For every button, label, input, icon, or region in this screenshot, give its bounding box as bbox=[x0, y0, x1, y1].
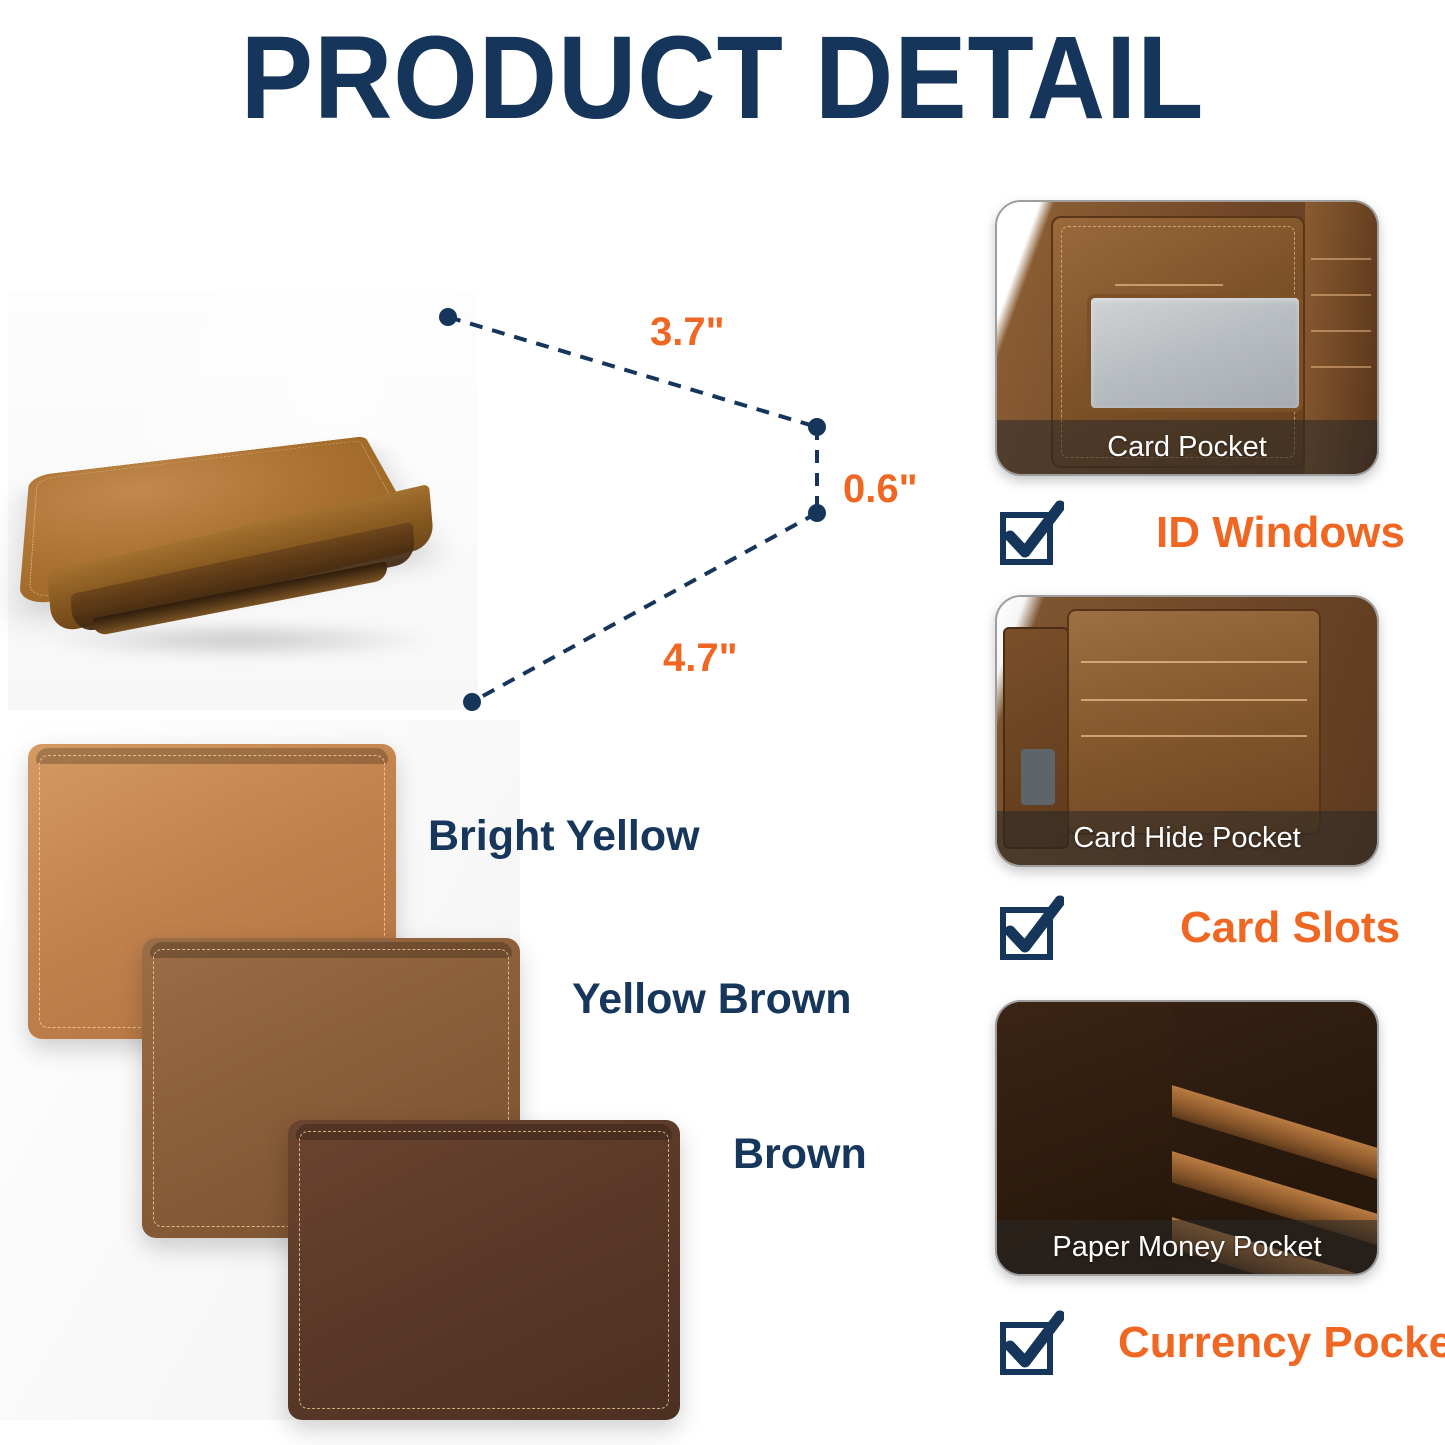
card-slot-line bbox=[1081, 735, 1307, 737]
card-slot-line bbox=[1115, 284, 1223, 286]
page-title: PRODUCT DETAIL bbox=[58, 18, 1387, 138]
hero-wallet-photo bbox=[8, 290, 478, 710]
feature-card-paper-money-pocket: Paper Money Pocket bbox=[995, 1000, 1379, 1276]
wallet-lip bbox=[296, 1124, 672, 1140]
card-slot-line bbox=[1081, 699, 1307, 701]
dimension-label-depth: 4.7" bbox=[663, 636, 738, 681]
feature-check-label: Card Slots bbox=[1180, 903, 1400, 953]
feature-caption: Card Pocket bbox=[997, 420, 1377, 474]
feature-caption: Paper Money Pocket bbox=[997, 1220, 1377, 1274]
wallet-card-slots-panel bbox=[1067, 609, 1321, 835]
feature-checkrow-id-windows: ID Windows bbox=[998, 500, 1405, 566]
dimension-label-height: 0.6" bbox=[843, 467, 918, 512]
card-slot-line bbox=[1081, 661, 1307, 663]
color-label-bright-yellow: Bright Yellow bbox=[428, 812, 700, 861]
feature-check-label: Currency Pockets bbox=[1118, 1318, 1445, 1368]
checkbox-checked-icon bbox=[998, 1310, 1064, 1376]
feature-card-card-hide-pocket: Card Hide Pocket bbox=[995, 595, 1379, 867]
color-label-brown: Brown bbox=[733, 1130, 867, 1179]
feature-checkrow-currency-pockets: Currency Pockets bbox=[998, 1310, 1445, 1376]
feature-card-card-pocket: Card Pocket bbox=[995, 200, 1379, 476]
color-label-yellow-brown: Yellow Brown bbox=[572, 975, 852, 1024]
feature-check-label: ID Windows bbox=[1156, 508, 1405, 558]
checkbox-checked-icon bbox=[998, 500, 1064, 566]
feature-checkrow-card-slots: Card Slots bbox=[998, 895, 1400, 961]
product-detail-infographic: PRODUCT DETAIL 3.7" 0.6" 4.7" bbox=[0, 0, 1445, 1445]
color-swatch-brown bbox=[288, 1120, 680, 1420]
left-id-window bbox=[1021, 749, 1055, 805]
feature-caption: Card Hide Pocket bbox=[997, 811, 1377, 865]
id-window bbox=[1087, 294, 1303, 412]
wallet-lip bbox=[150, 942, 512, 958]
wallet-lip bbox=[36, 748, 388, 764]
dimension-label-width: 3.7" bbox=[650, 310, 725, 355]
checkbox-checked-icon bbox=[998, 895, 1064, 961]
